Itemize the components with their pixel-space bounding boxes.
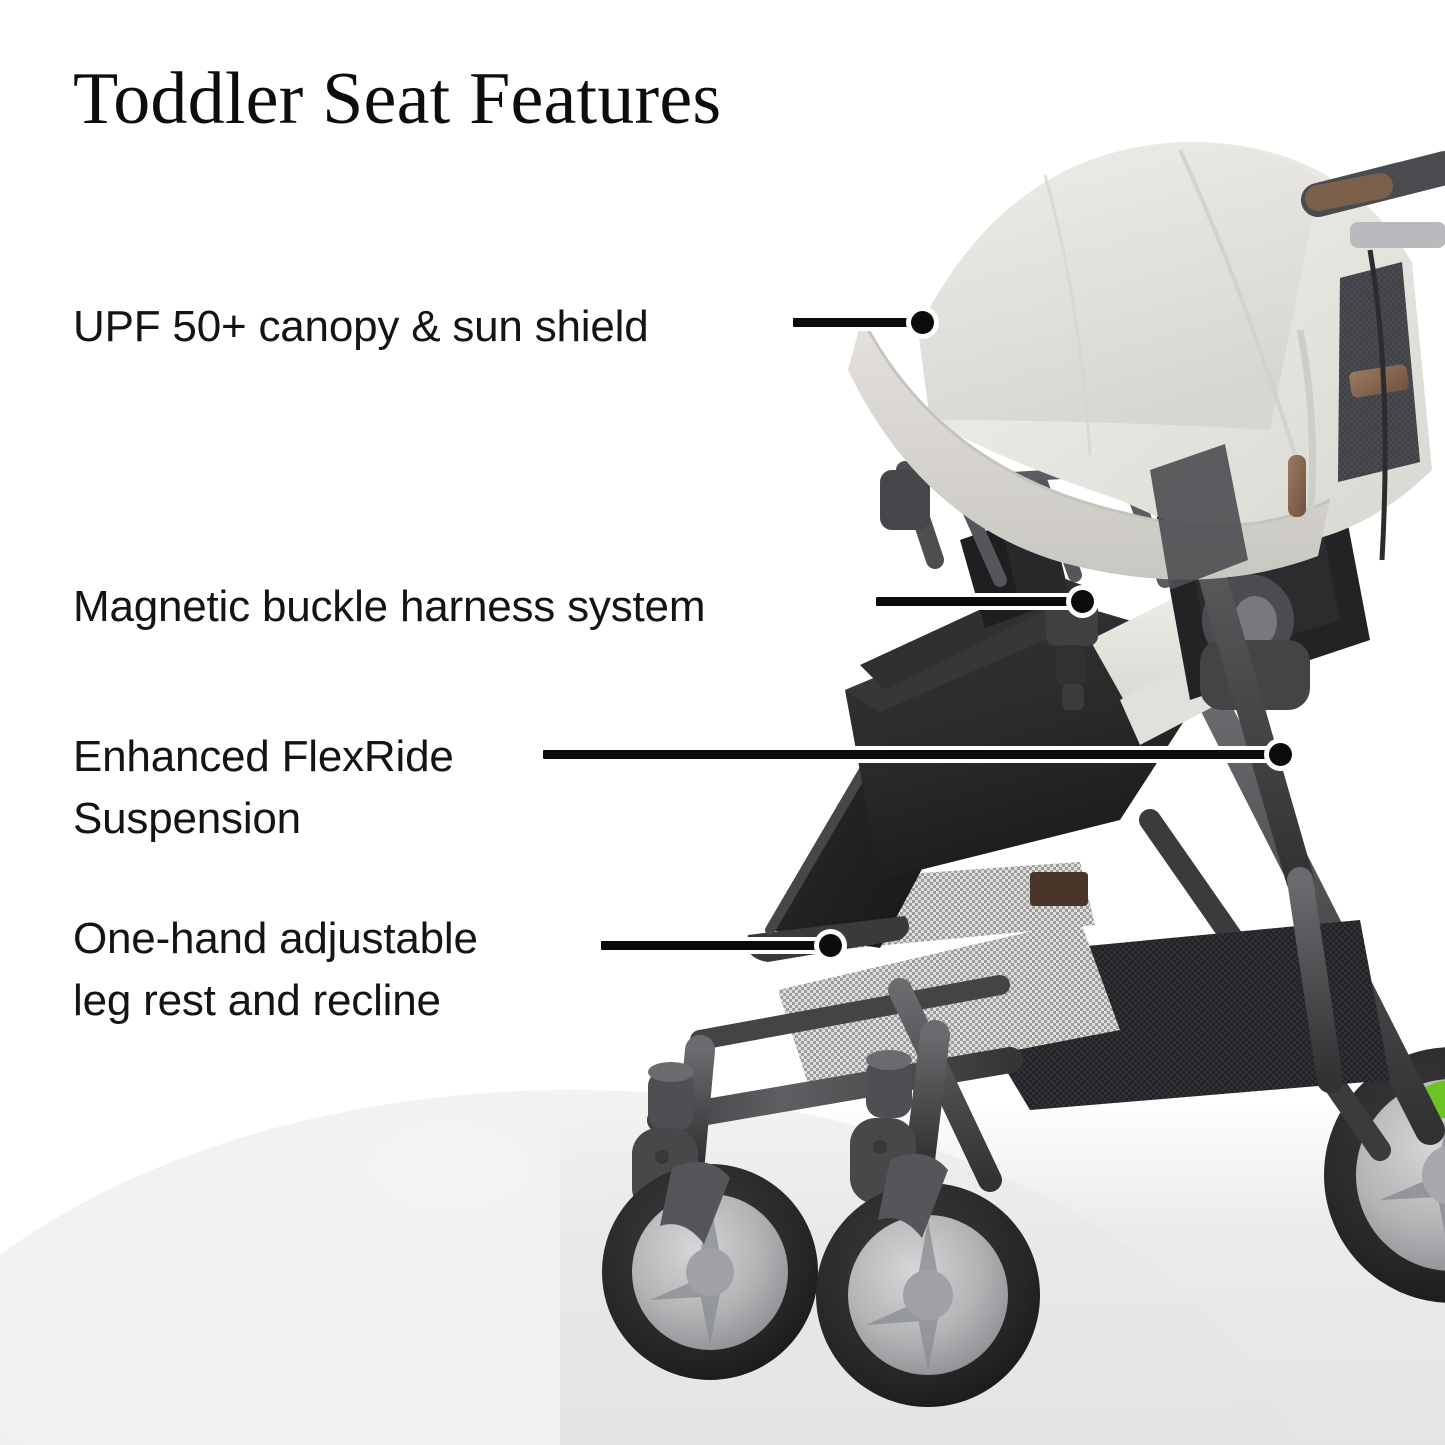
stroller-illustration <box>0 0 1445 1445</box>
feature-label-legrest: One-hand adjustable leg rest and recline <box>73 908 478 1033</box>
handlebar-leather-grip <box>1318 186 1380 198</box>
page-title: Toddler Seat Features <box>73 62 721 136</box>
leader-dot-harness <box>1071 590 1094 613</box>
leader-dot-suspension <box>1269 743 1292 766</box>
leader-line-canopy <box>793 318 922 327</box>
feature-label-suspension: Enhanced FlexRide Suspension <box>73 726 454 851</box>
feature-label-harness: Magnetic buckle harness system <box>73 576 705 638</box>
leader-line-harness <box>876 597 1082 606</box>
leader-dot-canopy <box>911 311 934 334</box>
zipper-pull <box>1288 455 1306 517</box>
feature-label-canopy: UPF 50+ canopy & sun shield <box>73 296 649 358</box>
leader-line-legrest <box>601 941 830 950</box>
infographic-canvas: Toddler Seat Features UPF 50+ canopy & s… <box>0 0 1445 1445</box>
front-wheel-left <box>602 1128 818 1380</box>
leader-line-suspension <box>543 750 1280 759</box>
leader-dot-legrest <box>819 934 842 957</box>
front-wheel-right <box>816 1118 1040 1407</box>
